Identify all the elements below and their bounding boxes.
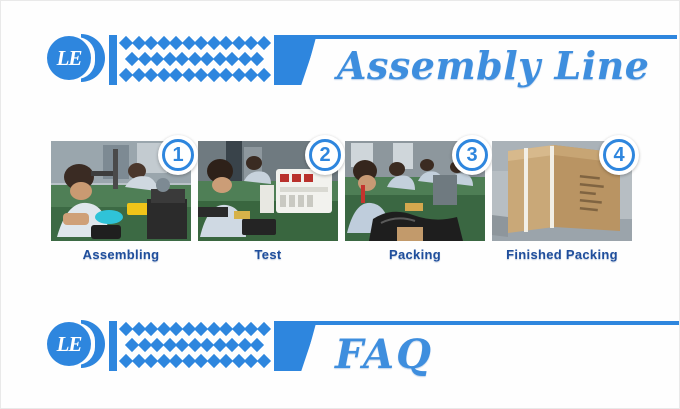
step-badge-number: 4	[599, 135, 639, 175]
logo-monogram: LE	[47, 322, 91, 366]
banner-accent-bar	[109, 35, 117, 85]
product-page: LE Assembly Line	[0, 0, 680, 409]
banner-title-faq: FAQ	[335, 331, 433, 378]
step-badge: 2	[305, 135, 345, 175]
step-item: 3 Packing	[345, 141, 484, 276]
step-item: 2 Test	[198, 141, 337, 276]
company-logo: LE	[47, 34, 99, 86]
step-caption: Test	[198, 247, 338, 262]
assembly-steps-list: 1 Assembling	[51, 141, 631, 276]
banner-accent-bar	[109, 321, 117, 371]
banner-rule	[312, 321, 679, 325]
step-badge-number: 3	[452, 135, 492, 175]
step-caption: Packing	[345, 247, 485, 262]
step-item: 1 Assembling	[51, 141, 190, 276]
logo-monogram: LE	[47, 36, 91, 80]
company-logo: LE	[47, 320, 99, 372]
banner-rule	[312, 35, 677, 39]
step-item: 4 Finished Packing	[492, 141, 631, 276]
diamond-pattern-icon	[121, 322, 269, 370]
step-badge-number: 2	[305, 135, 345, 175]
step-badge-number: 1	[158, 135, 198, 175]
diamond-pattern-icon	[121, 36, 269, 84]
step-caption: Finished Packing	[492, 247, 632, 262]
step-caption: Assembling	[51, 247, 191, 262]
step-badge: 1	[158, 135, 198, 175]
step-badge: 3	[452, 135, 492, 175]
step-badge: 4	[599, 135, 639, 175]
banner-title-assembly-line: Assembly Line	[337, 43, 649, 88]
